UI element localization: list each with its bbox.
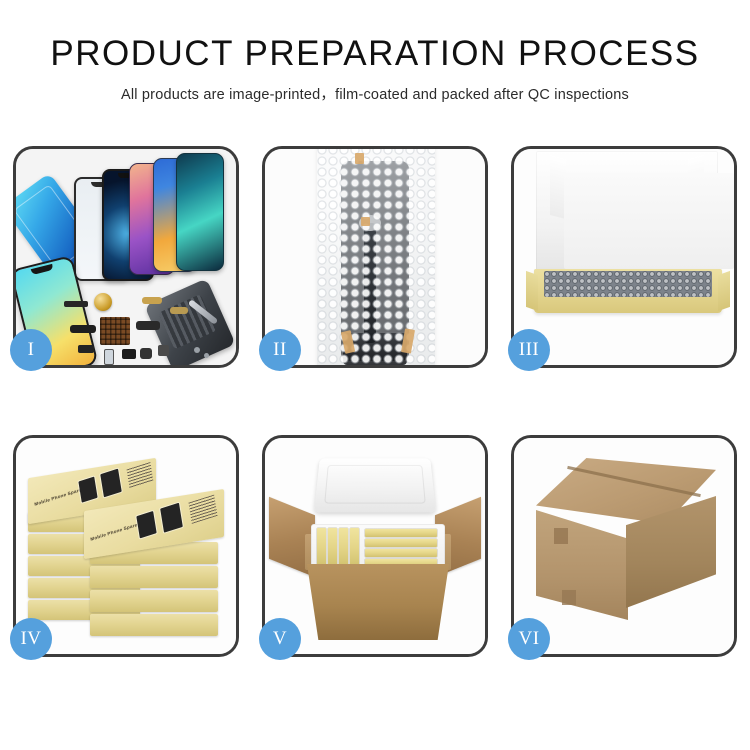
spare-part — [136, 321, 160, 330]
process-step-grid: I II — [13, 146, 737, 657]
box-print-text-lines — [127, 462, 154, 489]
step-1-photo — [16, 149, 236, 365]
process-step-panel-3: III — [511, 146, 737, 368]
shipping-box-front — [536, 510, 628, 620]
box-lid-white — [536, 151, 718, 277]
carton-body — [307, 564, 449, 640]
screw-part — [194, 347, 200, 353]
lid-inner-face — [564, 173, 734, 269]
step-badge-4: IV — [10, 618, 52, 660]
box-print-phone-image — [136, 511, 156, 538]
tape-strip — [361, 217, 370, 226]
packed-yellow-box — [350, 528, 359, 566]
spare-part — [170, 307, 188, 314]
step-badge-5: V — [259, 618, 301, 660]
foam-liner-tray — [311, 524, 445, 570]
retail-box — [90, 614, 218, 636]
box-print-phone-image — [160, 503, 183, 533]
step-6-photo — [514, 438, 734, 654]
packed-yellow-box — [365, 539, 437, 547]
bubble-texture — [317, 149, 435, 365]
retail-box — [90, 566, 218, 588]
page-subtitle: All products are image-printed，film-coat… — [0, 83, 750, 104]
spare-part — [70, 325, 96, 333]
process-step-panel-5: V — [262, 435, 488, 657]
foam-lid — [314, 458, 436, 512]
box-flap-tab — [562, 590, 576, 605]
retail-box-stack: Mobile Phone Spare Parts Mobile Phone Sp… — [28, 454, 228, 644]
chip-grid-part — [100, 317, 130, 345]
step-4-photo: Mobile Phone Spare Parts Mobile Phone Sp… — [16, 438, 236, 654]
step-2-photo — [265, 149, 485, 365]
packed-yellow-box — [365, 549, 437, 557]
process-step-panel-6: VI — [511, 435, 737, 657]
spare-part — [64, 301, 88, 307]
phone-screen-teal — [176, 153, 224, 271]
product-preparation-infographic: PRODUCT PREPARATION PROCESS All products… — [0, 0, 750, 750]
spare-part — [78, 345, 94, 353]
yellow-box-tray — [534, 269, 722, 313]
step-badge-1: I — [10, 329, 52, 371]
tape-strip — [355, 153, 364, 164]
spare-part — [122, 349, 136, 359]
step-badge-6: VI — [508, 618, 550, 660]
box-print-phone-image — [100, 469, 122, 498]
spare-part — [140, 348, 152, 359]
packed-yellow-box — [328, 528, 337, 566]
spare-part — [142, 297, 162, 304]
page-title: PRODUCT PREPARATION PROCESS — [0, 36, 750, 73]
packed-yellow-box — [339, 528, 348, 566]
step-5-photo — [265, 438, 485, 654]
packed-yellow-box — [365, 529, 437, 537]
bubble-wrap-contents — [544, 271, 712, 297]
coil-part-icon — [94, 293, 112, 311]
process-step-panel-4: Mobile Phone Spare Parts Mobile Phone Sp… — [13, 435, 239, 657]
spare-part — [104, 349, 114, 365]
process-step-panel-1: I — [13, 146, 239, 368]
box-print-phone-image — [78, 477, 97, 503]
step-3-photo — [514, 149, 734, 365]
header: PRODUCT PREPARATION PROCESS All products… — [0, 0, 750, 104]
screw-part — [204, 353, 209, 358]
box-print-text-lines — [188, 495, 217, 524]
spare-part — [158, 345, 169, 356]
retail-box — [90, 590, 218, 612]
process-step-panel-2: II — [262, 146, 488, 368]
box-flap-tab — [554, 528, 568, 544]
packed-yellow-box — [317, 528, 326, 566]
step-badge-2: II — [259, 329, 301, 371]
bubble-wrap-bag — [317, 149, 435, 365]
step-badge-3: III — [508, 329, 550, 371]
